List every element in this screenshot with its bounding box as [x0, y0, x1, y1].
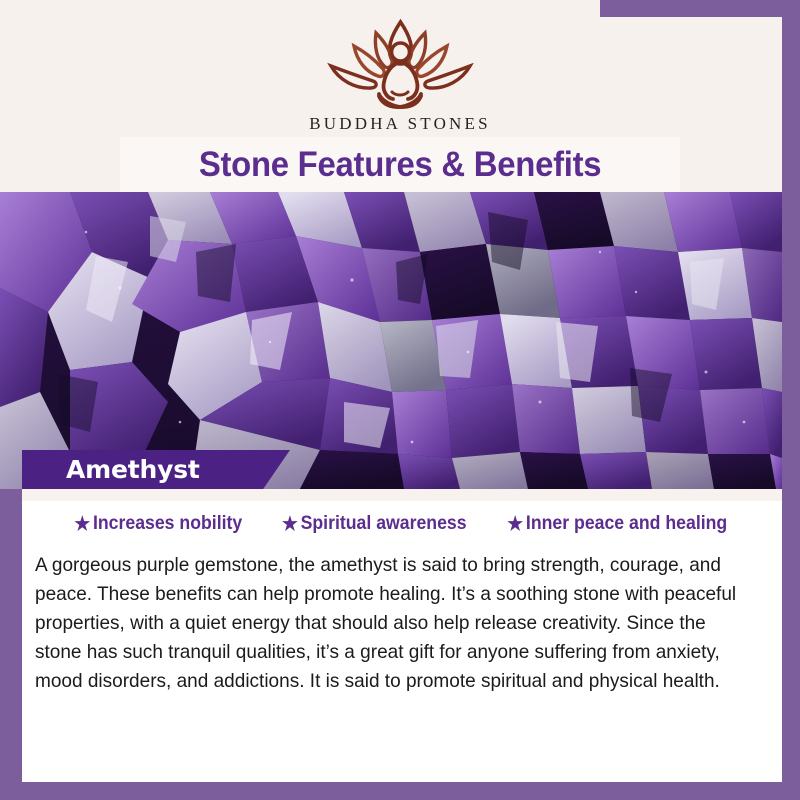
header-area: BUDDHA STONES — [0, 0, 800, 140]
benefit-item: ★ Spiritual awareness — [282, 513, 467, 535]
stone-name: Amethyst — [22, 455, 200, 484]
benefit-item: ★ Increases nobility — [75, 513, 243, 535]
star-icon: ★ — [508, 515, 524, 534]
brand-logo: BUDDHA STONES — [0, 14, 800, 134]
stone-description: A gorgeous purple gemstone, the amethyst… — [35, 551, 755, 696]
benefit-item: ★ Inner peace and healing — [508, 513, 728, 535]
benefit-label: Spiritual awareness — [300, 513, 466, 535]
frame-border-bottom — [0, 782, 800, 800]
lotus-meditation-figure-icon — [313, 14, 488, 112]
crystal-cluster-illustration — [0, 192, 782, 489]
panel-tint-strip — [22, 489, 782, 501]
frame-border-left — [0, 489, 22, 800]
benefit-label: Increases nobility — [93, 513, 242, 535]
amethyst-photo — [0, 192, 782, 489]
frame-border-right — [782, 0, 800, 800]
star-icon: ★ — [282, 515, 298, 534]
star-icon: ★ — [75, 515, 91, 534]
benefits-list: ★ Increases nobility ★ Spiritual awarene… — [22, 513, 782, 535]
stone-name-banner: Amethyst — [22, 450, 290, 489]
title-banner: Stone Features & Benefits — [120, 137, 680, 192]
content-panel: ★ Increases nobility ★ Spiritual awarene… — [22, 489, 782, 782]
page-title: Stone Features & Benefits — [199, 145, 601, 185]
brand-name: BUDDHA STONES — [0, 114, 800, 134]
frame-border-top — [600, 0, 800, 17]
benefit-label: Inner peace and healing — [526, 513, 727, 535]
stone-benefits-infographic: BUDDHA STONES Stone Features & Benefits — [0, 0, 800, 800]
